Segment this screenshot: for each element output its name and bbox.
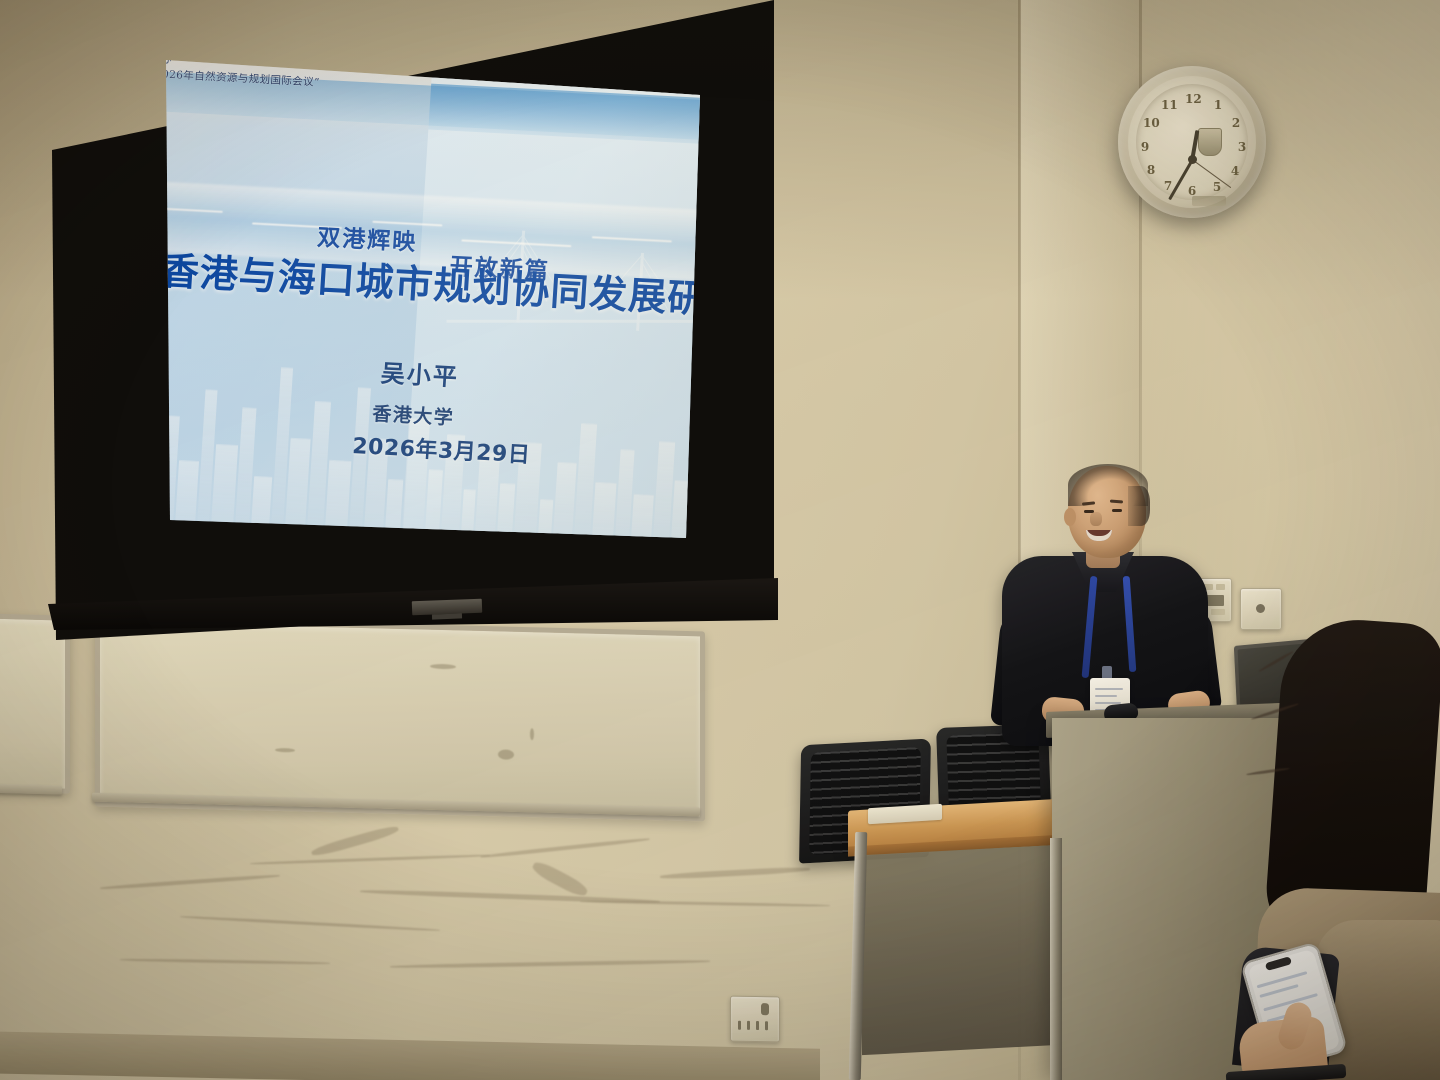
clock-face: 12 1 2 3 4 5 6 7 8 9 10 11	[1136, 84, 1248, 200]
wall-socket-lower[interactable]	[730, 996, 780, 1043]
presenter-hair-side	[1128, 486, 1150, 526]
presenter-nose	[1090, 512, 1102, 526]
presenter-ear	[1064, 508, 1076, 526]
slide-speaker-name: 吴小平	[380, 353, 460, 392]
projector-screen: 国际自然资源协会（iAONR）香港大学城市系统研究所（ISI）及香港大学建筑学院…	[14, 0, 774, 640]
clock-numeral: 3	[1235, 140, 1249, 154]
clock-numeral: 1	[1211, 98, 1225, 112]
clock-numeral: 10	[1143, 116, 1157, 130]
clock-numeral: 2	[1229, 116, 1243, 130]
wall-clock: 12 1 2 3 4 5 6 7 8 9 10 11	[1118, 66, 1266, 218]
lectern-rail	[1050, 838, 1062, 1080]
clock-numeral: 9	[1138, 140, 1152, 154]
clock-numeral: 4	[1228, 164, 1242, 178]
whiteboard-main	[95, 617, 705, 822]
lecture-room-photo: 国际自然资源协会（iAONR）香港大学城市系统研究所（ISI）及香港大学建筑学院…	[0, 0, 1440, 1080]
clock-numeral: 12	[1185, 92, 1199, 106]
screen-brand-plate	[412, 599, 482, 616]
clock-numeral: 8	[1144, 163, 1158, 177]
audience-member	[1246, 620, 1440, 1080]
slide-speaker-affiliation: 香港大学	[372, 399, 456, 430]
presenter-eye	[1112, 509, 1122, 512]
clock-numeral: 11	[1161, 98, 1175, 112]
clock-center-pin	[1188, 155, 1197, 164]
clock-numeral: 6	[1185, 184, 1199, 198]
clock-crest-icon	[1198, 128, 1222, 156]
